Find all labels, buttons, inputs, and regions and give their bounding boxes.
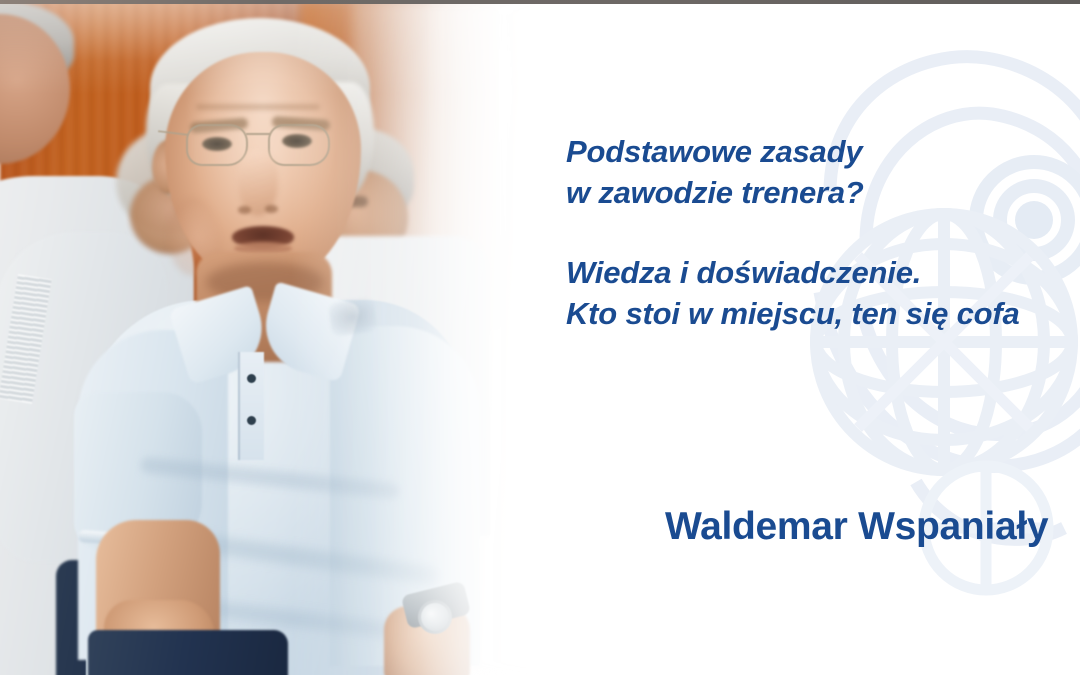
polo-placket bbox=[238, 352, 264, 460]
polo-chest-logo bbox=[328, 297, 378, 337]
subject-nostril-right bbox=[265, 205, 278, 213]
quote-spacer bbox=[566, 213, 1080, 252]
subject-forehead-crease bbox=[196, 104, 320, 110]
subject-jeans bbox=[88, 630, 288, 675]
top-edge-rule bbox=[0, 0, 1080, 4]
subject-nostril-left bbox=[238, 206, 251, 214]
polo-button-bottom bbox=[247, 416, 256, 425]
eyeglasses-bridge bbox=[246, 133, 270, 135]
eyeglasses-lens-right bbox=[268, 124, 330, 166]
slide-canvas: Podstawowe zasady w zawodzie trenera? Wi… bbox=[0, 0, 1080, 675]
speaker-name: Waldemar Wspaniały bbox=[665, 504, 1048, 550]
quote-answer-line-2: Kto stoi w miejscu, ten się cofa bbox=[566, 296, 1020, 331]
polo-button-top bbox=[247, 374, 256, 383]
eyeglasses-lens-left bbox=[186, 124, 248, 166]
quote-question-line-1: Podstawowe zasady bbox=[566, 134, 862, 169]
caption-block: Podstawowe zasady w zawodzie trenera? Wi… bbox=[566, 0, 1080, 675]
speaker-photo bbox=[0, 0, 560, 675]
quote-answer-line-1: Wiedza i doświadczenie. bbox=[566, 255, 921, 290]
quote-text: Podstawowe zasady w zawodzie trenera? Wi… bbox=[566, 131, 1080, 334]
quote-question-line-2: w zawodzie trenera? bbox=[566, 175, 864, 210]
photo-layers bbox=[0, 0, 560, 675]
